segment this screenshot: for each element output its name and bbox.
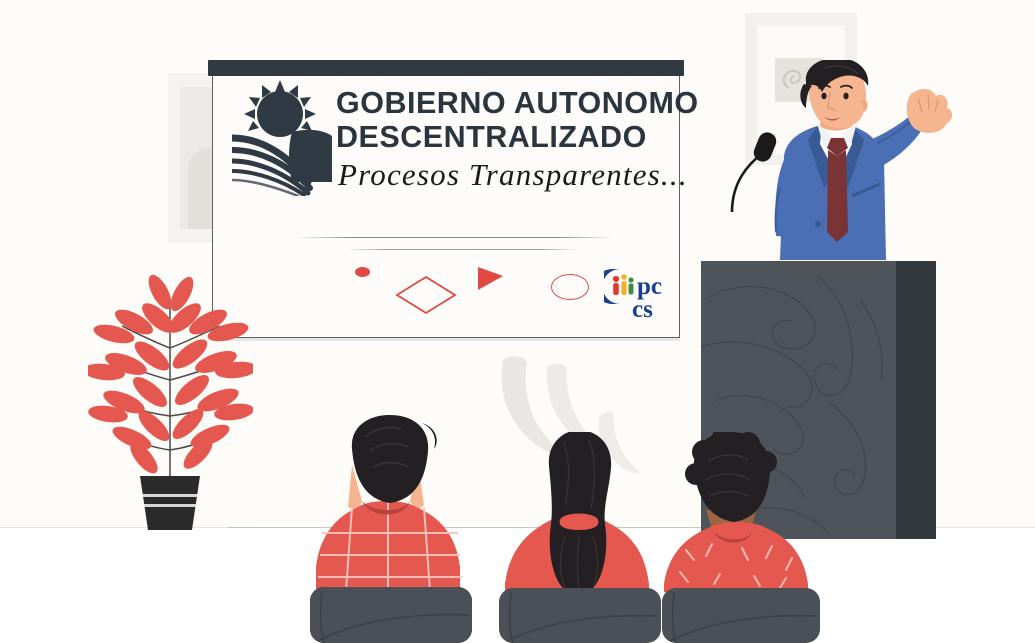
- slide-divider: [295, 237, 615, 238]
- screen-bottom-edge: [212, 338, 680, 341]
- slide-tagline: Procesos Transparentes...: [338, 157, 688, 193]
- slide-heading-line-1: GOBIERNO AUTONOMO: [336, 86, 684, 120]
- red-dot-shape: [355, 267, 370, 277]
- cpccs-logo: pc cs: [604, 262, 682, 322]
- screen-top-bar: [208, 60, 684, 76]
- cpccs-text-bottom: cs: [632, 296, 653, 322]
- potted-plant: [88, 268, 253, 533]
- microphone-icon: [732, 130, 779, 212]
- sun-and-hills-logo: [232, 78, 336, 196]
- illustration-canvas: GOBIERNO AUTONOMO DESCENTRALIZADO Proces…: [0, 0, 1035, 643]
- attendee-right: [650, 432, 830, 643]
- slide-divider: [345, 249, 580, 250]
- red-diamond-shape: [395, 275, 457, 315]
- attendee-left: [300, 415, 485, 643]
- slide-heading: GOBIERNO AUTONOMO DESCENTRALIZADO: [336, 86, 684, 154]
- speaker-presenter: [718, 60, 970, 275]
- red-ellipse-shape: [551, 274, 589, 300]
- red-triangle-shape: [478, 267, 503, 290]
- podium-side: [896, 261, 936, 539]
- attendee-center: [485, 432, 670, 643]
- slide-heading-line-2: DESCENTRALIZADO: [336, 120, 684, 154]
